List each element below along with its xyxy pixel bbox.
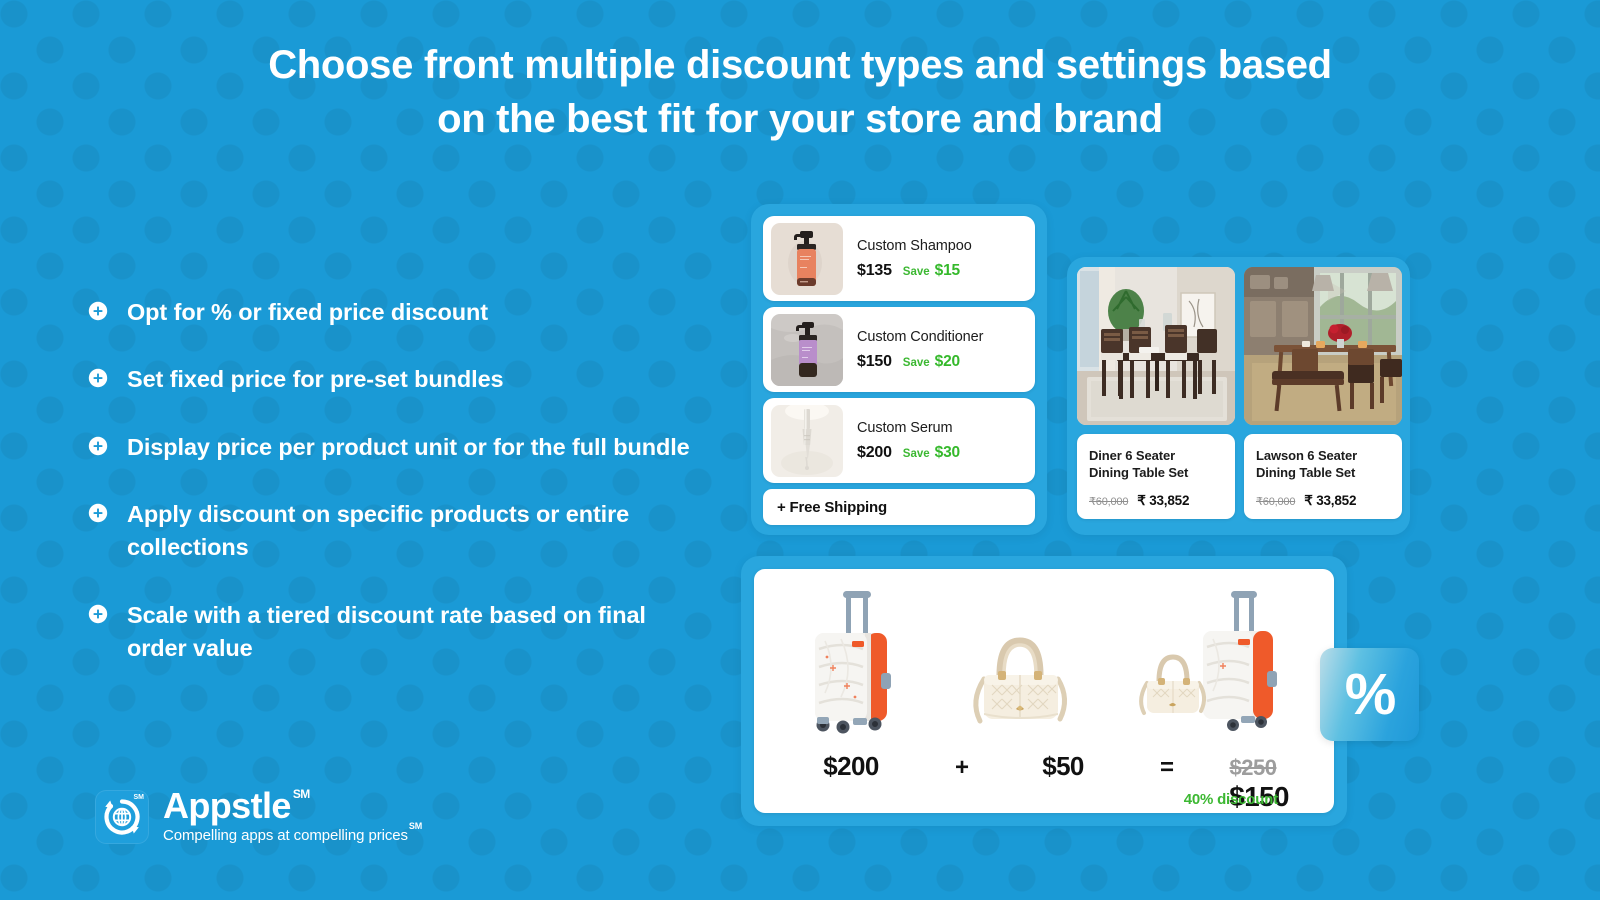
product-price: $150 [857, 353, 892, 371]
plus-operator: + [955, 754, 969, 781]
product-image-diner [1077, 267, 1235, 425]
logo-name: AppstleSM [163, 788, 308, 825]
logo-name-sm: SM [293, 787, 310, 801]
price-line: $135 Save $15 [857, 262, 972, 280]
logo-tagline-sm: SM [409, 821, 422, 831]
product-price: $200 [857, 444, 892, 462]
plus-circle-icon [88, 604, 108, 624]
price-line: $200 Save $30 [857, 444, 960, 462]
price-line: $150 Save $20 [857, 353, 983, 371]
product-name: Custom Serum [857, 419, 960, 437]
bundle-item-info: Custom Conditioner $150 Save $20 [857, 328, 983, 371]
suitcase-and-handbag-image [1125, 585, 1293, 737]
item-price-2: $50 [1042, 751, 1084, 781]
product-name-line-1: Diner 6 Seater [1089, 448, 1175, 463]
product-thumbnail-serum [771, 405, 843, 477]
handbag-slot [954, 627, 1086, 737]
discounted-price: ₹ 33,852 [1137, 493, 1189, 509]
save-amount: $20 [935, 353, 960, 371]
list-item-label: Set fixed price for pre-set bundles [127, 363, 504, 396]
list-item: Display price per product unit or for th… [88, 431, 708, 464]
luggage-bundle-panel: $200 + $50 = $250 $150 40% discount [741, 556, 1347, 826]
product-image-lawson [1244, 267, 1402, 425]
free-shipping-row[interactable]: + Free Shipping [763, 489, 1035, 525]
handbag-image [954, 627, 1086, 737]
price-line: ₹60,000 ₹ 33,852 [1256, 493, 1390, 509]
bundle-item-info: Custom Shampoo $135 Save $15 [857, 237, 972, 280]
product-name: Diner 6 Seater Dining Table Set [1089, 447, 1223, 482]
plus-circle-icon [88, 368, 108, 388]
promo-banner: Choose front multiple discount types and… [0, 0, 1600, 900]
list-item-label: Scale with a tiered discount rate based … [127, 599, 708, 666]
plus-circle-icon [88, 301, 108, 321]
logo-name-text: Appstle [163, 785, 291, 826]
logo-text: AppstleSM Compelling apps at compelling … [163, 788, 421, 845]
suitcase-slot [795, 587, 915, 737]
price-line: ₹60,000 ₹ 33,852 [1089, 493, 1223, 509]
free-shipping-label: + Free Shipping [777, 499, 887, 516]
bundle-item-info: Custom Serum $200 Save $30 [857, 419, 960, 462]
list-item-label: Opt for % or fixed price discount [127, 296, 488, 329]
bundle-item-row[interactable]: Custom Conditioner $150 Save $20 [763, 307, 1035, 392]
item-price-1: $200 [823, 751, 878, 781]
logo-tagline-text: Compelling apps at compelling prices [163, 827, 408, 844]
plus-circle-icon [88, 436, 108, 456]
percent-symbol: % [1345, 666, 1395, 724]
equals-operator: = [1160, 754, 1174, 781]
luggage-bundle-images [754, 585, 1334, 737]
logo-mark: SM [95, 790, 149, 844]
product-card-body: Diner 6 Seater Dining Table Set ₹60,000 … [1077, 434, 1235, 519]
globe-refresh-icon [102, 797, 142, 837]
discount-note: 40% discount [1184, 791, 1278, 808]
appstle-logo[interactable]: SM AppstleSM Compelling apps at compelli… [95, 788, 421, 845]
save-label: Save [903, 448, 930, 460]
bundle-slot [1125, 585, 1293, 737]
product-thumbnail-shampoo [771, 223, 843, 295]
original-price: ₹60,000 [1089, 495, 1128, 508]
page-title: Choose front multiple discount types and… [180, 38, 1420, 146]
headline-line-1: Choose front multiple discount types and… [180, 38, 1420, 92]
save-label: Save [903, 266, 930, 278]
bundle-item-row[interactable]: Custom Serum $200 Save $30 [763, 398, 1035, 483]
list-item: Set fixed price for pre-set bundles [88, 363, 708, 396]
headline-line-2: on the best fit for your store and brand [180, 92, 1420, 146]
feature-list: Opt for % or fixed price discount Set fi… [88, 296, 708, 666]
bundle-item-row[interactable]: Custom Shampoo $135 Save $15 [763, 216, 1035, 301]
list-item-label: Apply discount on specific products or e… [127, 498, 708, 565]
product-name-line-1: Lawson 6 Seater [1256, 448, 1357, 463]
product-thumbnail-conditioner [771, 314, 843, 386]
list-item: Scale with a tiered discount rate based … [88, 599, 708, 666]
list-item: Apply discount on specific products or e… [88, 498, 708, 565]
product-name-line-2: Dining Table Set [1089, 465, 1188, 480]
logo-mark-sm: SM [134, 794, 145, 801]
plus-circle-icon [88, 503, 108, 523]
product-name: Custom Shampoo [857, 237, 972, 255]
product-price: $135 [857, 262, 892, 280]
furniture-offer-panel: Diner 6 Seater Dining Table Set ₹60,000 … [1067, 257, 1410, 535]
product-card[interactable]: Lawson 6 Seater Dining Table Set ₹60,000… [1244, 267, 1402, 525]
bundle-original-price: $250 [1230, 755, 1277, 780]
product-name: Custom Conditioner [857, 328, 983, 346]
product-name: Lawson 6 Seater Dining Table Set [1256, 447, 1390, 482]
save-amount: $30 [935, 444, 960, 462]
product-name-line-2: Dining Table Set [1256, 465, 1355, 480]
product-card[interactable]: Diner 6 Seater Dining Table Set ₹60,000 … [1077, 267, 1235, 525]
save-label: Save [903, 357, 930, 369]
product-card-body: Lawson 6 Seater Dining Table Set ₹60,000… [1244, 434, 1402, 519]
percent-badge: % [1320, 648, 1419, 741]
suitcase-image [795, 587, 915, 737]
save-amount: $15 [935, 262, 960, 280]
bundle-offer-panel: Custom Shampoo $135 Save $15 [751, 204, 1047, 535]
luggage-bundle-card: $200 + $50 = $250 $150 40% discount [754, 569, 1334, 813]
original-price: ₹60,000 [1256, 495, 1295, 508]
list-item-label: Display price per product unit or for th… [127, 431, 690, 464]
discounted-price: ₹ 33,852 [1304, 493, 1356, 509]
logo-tagline: Compelling apps at compelling pricesSM [163, 826, 421, 845]
list-item: Opt for % or fixed price discount [88, 296, 708, 329]
